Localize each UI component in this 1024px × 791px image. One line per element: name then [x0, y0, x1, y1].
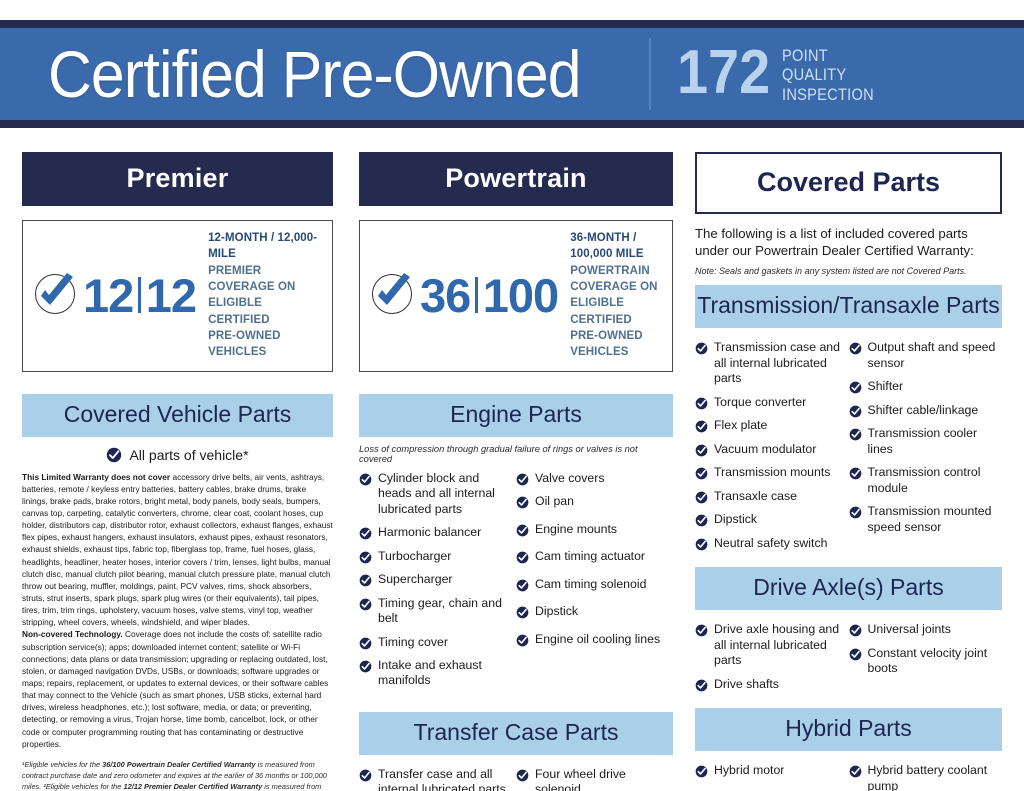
powertrain-title-plate: Powertrain: [359, 152, 673, 206]
check-icon: [359, 637, 372, 650]
powertrain-coverage-line4: PRE-OWNED VEHICLES: [570, 328, 664, 361]
check-icon: [516, 769, 529, 782]
check-icon: [849, 467, 862, 480]
inspection-badge: 172 POINT QUALITY INSPECTION: [677, 44, 889, 103]
list-item: Engine mounts: [516, 522, 667, 537]
check-icon: [516, 579, 529, 592]
check-icon: [516, 634, 529, 647]
premier-coverage-line4: PRE-OWNED VEHICLES: [208, 328, 324, 361]
check-icon: [695, 420, 708, 433]
list-item: Transmission cooler lines: [849, 426, 997, 457]
list-item-label: Shifter: [868, 379, 904, 394]
premier-coverage-line2: PREMIER COVERAGE ON: [208, 263, 324, 296]
list-item: Cam timing solenoid: [516, 577, 667, 592]
list-item: Harmonic balancer: [359, 525, 510, 540]
inspection-point-count: 172: [677, 44, 770, 103]
premier-title-plate: Premier: [22, 152, 333, 206]
exclusions-body: accessory drive belts, air vents, ashtra…: [22, 472, 333, 628]
transfer-case-parts-list: Transfer case and all internal lubricate…: [359, 767, 673, 791]
list-item: Dipstick: [516, 604, 667, 619]
list-item: Timing gear, chain and belt: [359, 596, 510, 627]
hybrid-right-column: Hybrid battery coolant pump Input damper…: [849, 763, 1003, 791]
list-item: Oil pan: [516, 494, 667, 509]
check-icon: [849, 648, 862, 661]
badge-line-inspection: INSPECTION: [782, 85, 874, 104]
list-item-label: Transmission mounted speed sensor: [868, 504, 997, 535]
list-item: Timing cover: [359, 635, 510, 650]
list-item: Vacuum modulator: [695, 442, 843, 457]
list-item: Transmission case and all internal lubri…: [695, 340, 843, 386]
list-item-label: Turbocharger: [378, 549, 451, 564]
list-item: Transmission control module: [849, 465, 997, 496]
list-item: Neutral safety switch: [695, 536, 843, 551]
premier-coverage-line1: 12-MONTH / 12,000-MILE: [208, 230, 324, 263]
check-icon: [359, 660, 372, 673]
list-item: Transfer case and all internal lubricate…: [359, 767, 510, 791]
check-icon: [359, 574, 372, 587]
powertrain-miles: 100: [483, 272, 558, 319]
list-item-label: Hybrid motor: [714, 763, 784, 778]
list-item-label: Transfer case and all internal lubricate…: [378, 767, 510, 791]
list-item: Flex plate: [695, 418, 843, 433]
powertrain-coverage-badge: 36 100 36-MONTH / 100,000 MILE POWERTRAI…: [359, 220, 673, 372]
list-item: Hybrid motor: [695, 763, 843, 778]
list-item: Supercharger: [359, 572, 510, 587]
list-item: Turbocharger: [359, 549, 510, 564]
transfer-right-column: Four wheel drive solenoid Transfer case …: [516, 767, 673, 791]
column-covered-parts: Covered Parts The following is a list of…: [685, 152, 1024, 791]
tech-lead: Non-covered Technology.: [22, 629, 123, 639]
premier-coverage-line3: ELIGIBLE CERTIFIED: [208, 295, 324, 328]
list-item-label: Four wheel drive solenoid: [535, 767, 667, 791]
list-item-all-parts: All parts of vehicle*: [22, 447, 333, 463]
check-icon: [516, 496, 529, 509]
header-band: Certified Pre-Owned 172 POINT QUALITY IN…: [0, 28, 1024, 120]
content-columns: Premier 12 12 12-MONTH / 12,000-MILE PRE…: [0, 152, 1024, 791]
list-item-label: Cam timing solenoid: [535, 577, 646, 592]
powertrain-coverage-text: 36-MONTH / 100,000 MILE POWERTRAIN COVER…: [570, 230, 664, 361]
list-item-label: Flex plate: [714, 418, 767, 433]
list-item-label: Vacuum modulator: [714, 442, 816, 457]
check-icon: [849, 381, 862, 394]
list-item: Four wheel drive solenoid: [516, 767, 667, 791]
list-item-label: Supercharger: [378, 572, 453, 587]
check-icon: [849, 765, 862, 778]
hybrid-left-column: Hybrid motor Hybrid battery cooling fan …: [695, 763, 849, 791]
premier-months: 12: [83, 272, 133, 319]
list-item: Cam timing actuator: [516, 549, 667, 564]
list-item-label: Timing cover: [378, 635, 448, 650]
list-item-label: Shifter cable/linkage: [868, 403, 979, 418]
check-icon: [695, 514, 708, 527]
column-premier: Premier 12 12 12-MONTH / 12,000-MILE PRE…: [0, 152, 345, 791]
check-icon: [695, 765, 708, 778]
list-item: Drive axle housing and all internal lubr…: [695, 622, 843, 668]
list-item: Transmission mounts: [695, 465, 843, 480]
list-item: Shifter: [849, 379, 997, 394]
tech-body: Coverage does not include the costs of: …: [22, 629, 328, 748]
list-item: Torque converter: [695, 395, 843, 410]
transmission-left-column: Transmission case and all internal lubri…: [695, 340, 849, 559]
band-covered-vehicle-parts: Covered Vehicle Parts: [22, 394, 333, 437]
premier-coverage-badge: 12 12 12-MONTH / 12,000-MILE PREMIER COV…: [22, 220, 333, 372]
band-transmission-transaxle-parts: Transmission/Transaxle Parts: [695, 285, 1002, 328]
check-icon: [849, 624, 862, 637]
checkmark-circle-icon: [33, 272, 79, 318]
check-icon: [106, 447, 122, 463]
band-engine-parts: Engine Parts: [359, 394, 673, 437]
check-icon: [695, 679, 708, 692]
check-icon: [359, 473, 372, 486]
check-icon: [695, 342, 708, 355]
footnote-1d: 12/12 Premier Dealer Certified Warranty: [123, 782, 262, 791]
list-item-label: Engine oil cooling lines: [535, 632, 660, 647]
check-icon: [359, 527, 372, 540]
band-hybrid-parts: Hybrid Parts: [695, 708, 1002, 751]
badge-line-quality: QUALITY: [782, 65, 874, 84]
list-item-label: Hybrid battery coolant pump: [868, 763, 997, 791]
list-item: Intake and exhaust manifolds: [359, 658, 510, 689]
powertrain-term-numbers: 36 100: [420, 272, 558, 319]
premier-coverage-text: 12-MONTH / 12,000-MILE PREMIER COVERAGE …: [208, 230, 324, 361]
list-item-label: Drive axle housing and all internal lubr…: [714, 622, 843, 668]
check-icon: [849, 405, 862, 418]
engine-parts-list: Cylinder block and heads and all interna…: [359, 471, 673, 697]
check-icon: [359, 769, 372, 782]
premier-exclusions: This Limited Warranty does not cover acc…: [22, 471, 333, 750]
header-top-strip: [0, 20, 1024, 28]
list-item: Dipstick: [695, 512, 843, 527]
list-item: Engine oil cooling lines: [516, 632, 667, 647]
engine-parts-left-column: Cylinder block and heads and all interna…: [359, 471, 516, 697]
list-item-label: Universal joints: [868, 622, 951, 637]
list-item-label: Dipstick: [714, 512, 757, 527]
band-transfer-case-parts: Transfer Case Parts: [359, 712, 673, 755]
footnote-1a: ¹Eligible vehicles for the: [22, 760, 102, 769]
covered-parts-title-plate: Covered Parts: [695, 152, 1002, 214]
list-item: Constant velocity joint boots: [849, 646, 997, 677]
covered-parts-intro: The following is a list of included cove…: [695, 225, 1002, 259]
list-item: Valve covers: [516, 471, 667, 486]
list-item: Drive shafts: [695, 677, 843, 692]
all-parts-label: All parts of vehicle*: [129, 447, 248, 463]
covered-parts-note: Note: Seals and gaskets in any system li…: [695, 266, 1002, 276]
column-powertrain: Powertrain 36 100 36-MONTH / 100,000 MIL…: [345, 152, 685, 791]
check-icon: [849, 342, 862, 355]
powertrain-months: 36: [420, 272, 470, 319]
powertrain-coverage-line3: ELIGIBLE CERTIFIED: [570, 295, 664, 328]
footnote-1b: 36/100 Powertrain Dealer Certified Warra…: [102, 760, 256, 769]
number-divider: [138, 277, 141, 313]
list-item: Universal joints: [849, 622, 997, 637]
check-icon: [695, 491, 708, 504]
list-item-label: Torque converter: [714, 395, 806, 410]
checkmark-circle-icon: [370, 272, 416, 318]
axle-left-column: Drive axle housing and all internal lubr…: [695, 622, 849, 700]
check-icon: [695, 624, 708, 637]
list-item-label: Timing gear, chain and belt: [378, 596, 510, 627]
check-icon: [695, 538, 708, 551]
check-icon: [849, 506, 862, 519]
list-item: Hybrid battery coolant pump: [849, 763, 997, 791]
list-item-label: Transmission cooler lines: [868, 426, 997, 457]
header-divider: [649, 38, 651, 110]
check-icon: [695, 467, 708, 480]
list-item-label: Dipstick: [535, 604, 578, 619]
drive-axle-parts-list: Drive axle housing and all internal lubr…: [695, 622, 1002, 700]
list-item: Transaxle case: [695, 489, 843, 504]
list-item-label: Engine mounts: [535, 522, 617, 537]
powertrain-coverage-line1: 36-MONTH / 100,000 MILE: [570, 230, 664, 263]
transfer-left-column: Transfer case and all internal lubricate…: [359, 767, 516, 791]
list-item-label: Drive shafts: [714, 677, 779, 692]
check-icon: [516, 473, 529, 486]
check-icon: [359, 551, 372, 564]
header-bottom-strip: [0, 120, 1024, 128]
check-icon: [695, 397, 708, 410]
number-divider: [475, 277, 478, 313]
list-item-label: Transmission control module: [868, 465, 997, 496]
engine-parts-right-column: Valve covers Oil pan Engine mounts Cam t…: [516, 471, 673, 697]
list-item-label: Constant velocity joint boots: [868, 646, 997, 677]
list-item-label: Output shaft and speed sensor: [868, 340, 997, 371]
transmission-parts-list: Transmission case and all internal lubri…: [695, 340, 1002, 559]
check-icon: [516, 551, 529, 564]
list-item-label: Intake and exhaust manifolds: [378, 658, 510, 689]
check-icon: [359, 598, 372, 611]
exclusions-lead: This Limited Warranty does not cover: [22, 472, 170, 482]
certified-pre-owned-brochure: Certified Pre-Owned 172 POINT QUALITY IN…: [0, 0, 1024, 791]
list-item-label: Neutral safety switch: [714, 536, 827, 551]
transmission-right-column: Output shaft and speed sensor Shifter Sh…: [849, 340, 1003, 559]
page-header: Certified Pre-Owned 172 POINT QUALITY IN…: [0, 20, 1024, 128]
list-item-label: Transmission case and all internal lubri…: [714, 340, 843, 386]
check-icon: [849, 428, 862, 441]
badge-line-point: POINT: [782, 46, 874, 65]
check-icon: [516, 524, 529, 537]
check-icon: [516, 606, 529, 619]
list-item-label: Harmonic balancer: [378, 525, 481, 540]
premier-term-numbers: 12 12: [83, 272, 196, 319]
page-title: Certified Pre-Owned: [48, 41, 581, 107]
list-item-label: Transmission mounts: [714, 465, 830, 480]
inspection-badge-lines: POINT QUALITY INSPECTION: [782, 46, 889, 103]
list-item: Shifter cable/linkage: [849, 403, 997, 418]
premier-footnotes: ¹Eligible vehicles for the 36/100 Powert…: [22, 759, 333, 791]
engine-parts-note: Loss of compression through gradual fail…: [359, 444, 673, 464]
band-drive-axles-parts: Drive Axle(s) Parts: [695, 567, 1002, 610]
powertrain-coverage-line2: POWERTRAIN COVERAGE ON: [570, 263, 664, 296]
check-icon: [695, 444, 708, 457]
list-item: Cylinder block and heads and all interna…: [359, 471, 510, 517]
list-item-label: Cam timing actuator: [535, 549, 645, 564]
list-item: Transmission mounted speed sensor: [849, 504, 997, 535]
list-item-label: Transaxle case: [714, 489, 797, 504]
list-item-label: Valve covers: [535, 471, 604, 486]
axle-right-column: Universal joints Constant velocity joint…: [849, 622, 1003, 700]
hybrid-parts-list: Hybrid motor Hybrid battery cooling fan …: [695, 763, 1002, 791]
premier-miles: 12: [146, 272, 196, 319]
list-item-label: Oil pan: [535, 494, 574, 509]
list-item-label: Cylinder block and heads and all interna…: [378, 471, 510, 517]
list-item: Output shaft and speed sensor: [849, 340, 997, 371]
